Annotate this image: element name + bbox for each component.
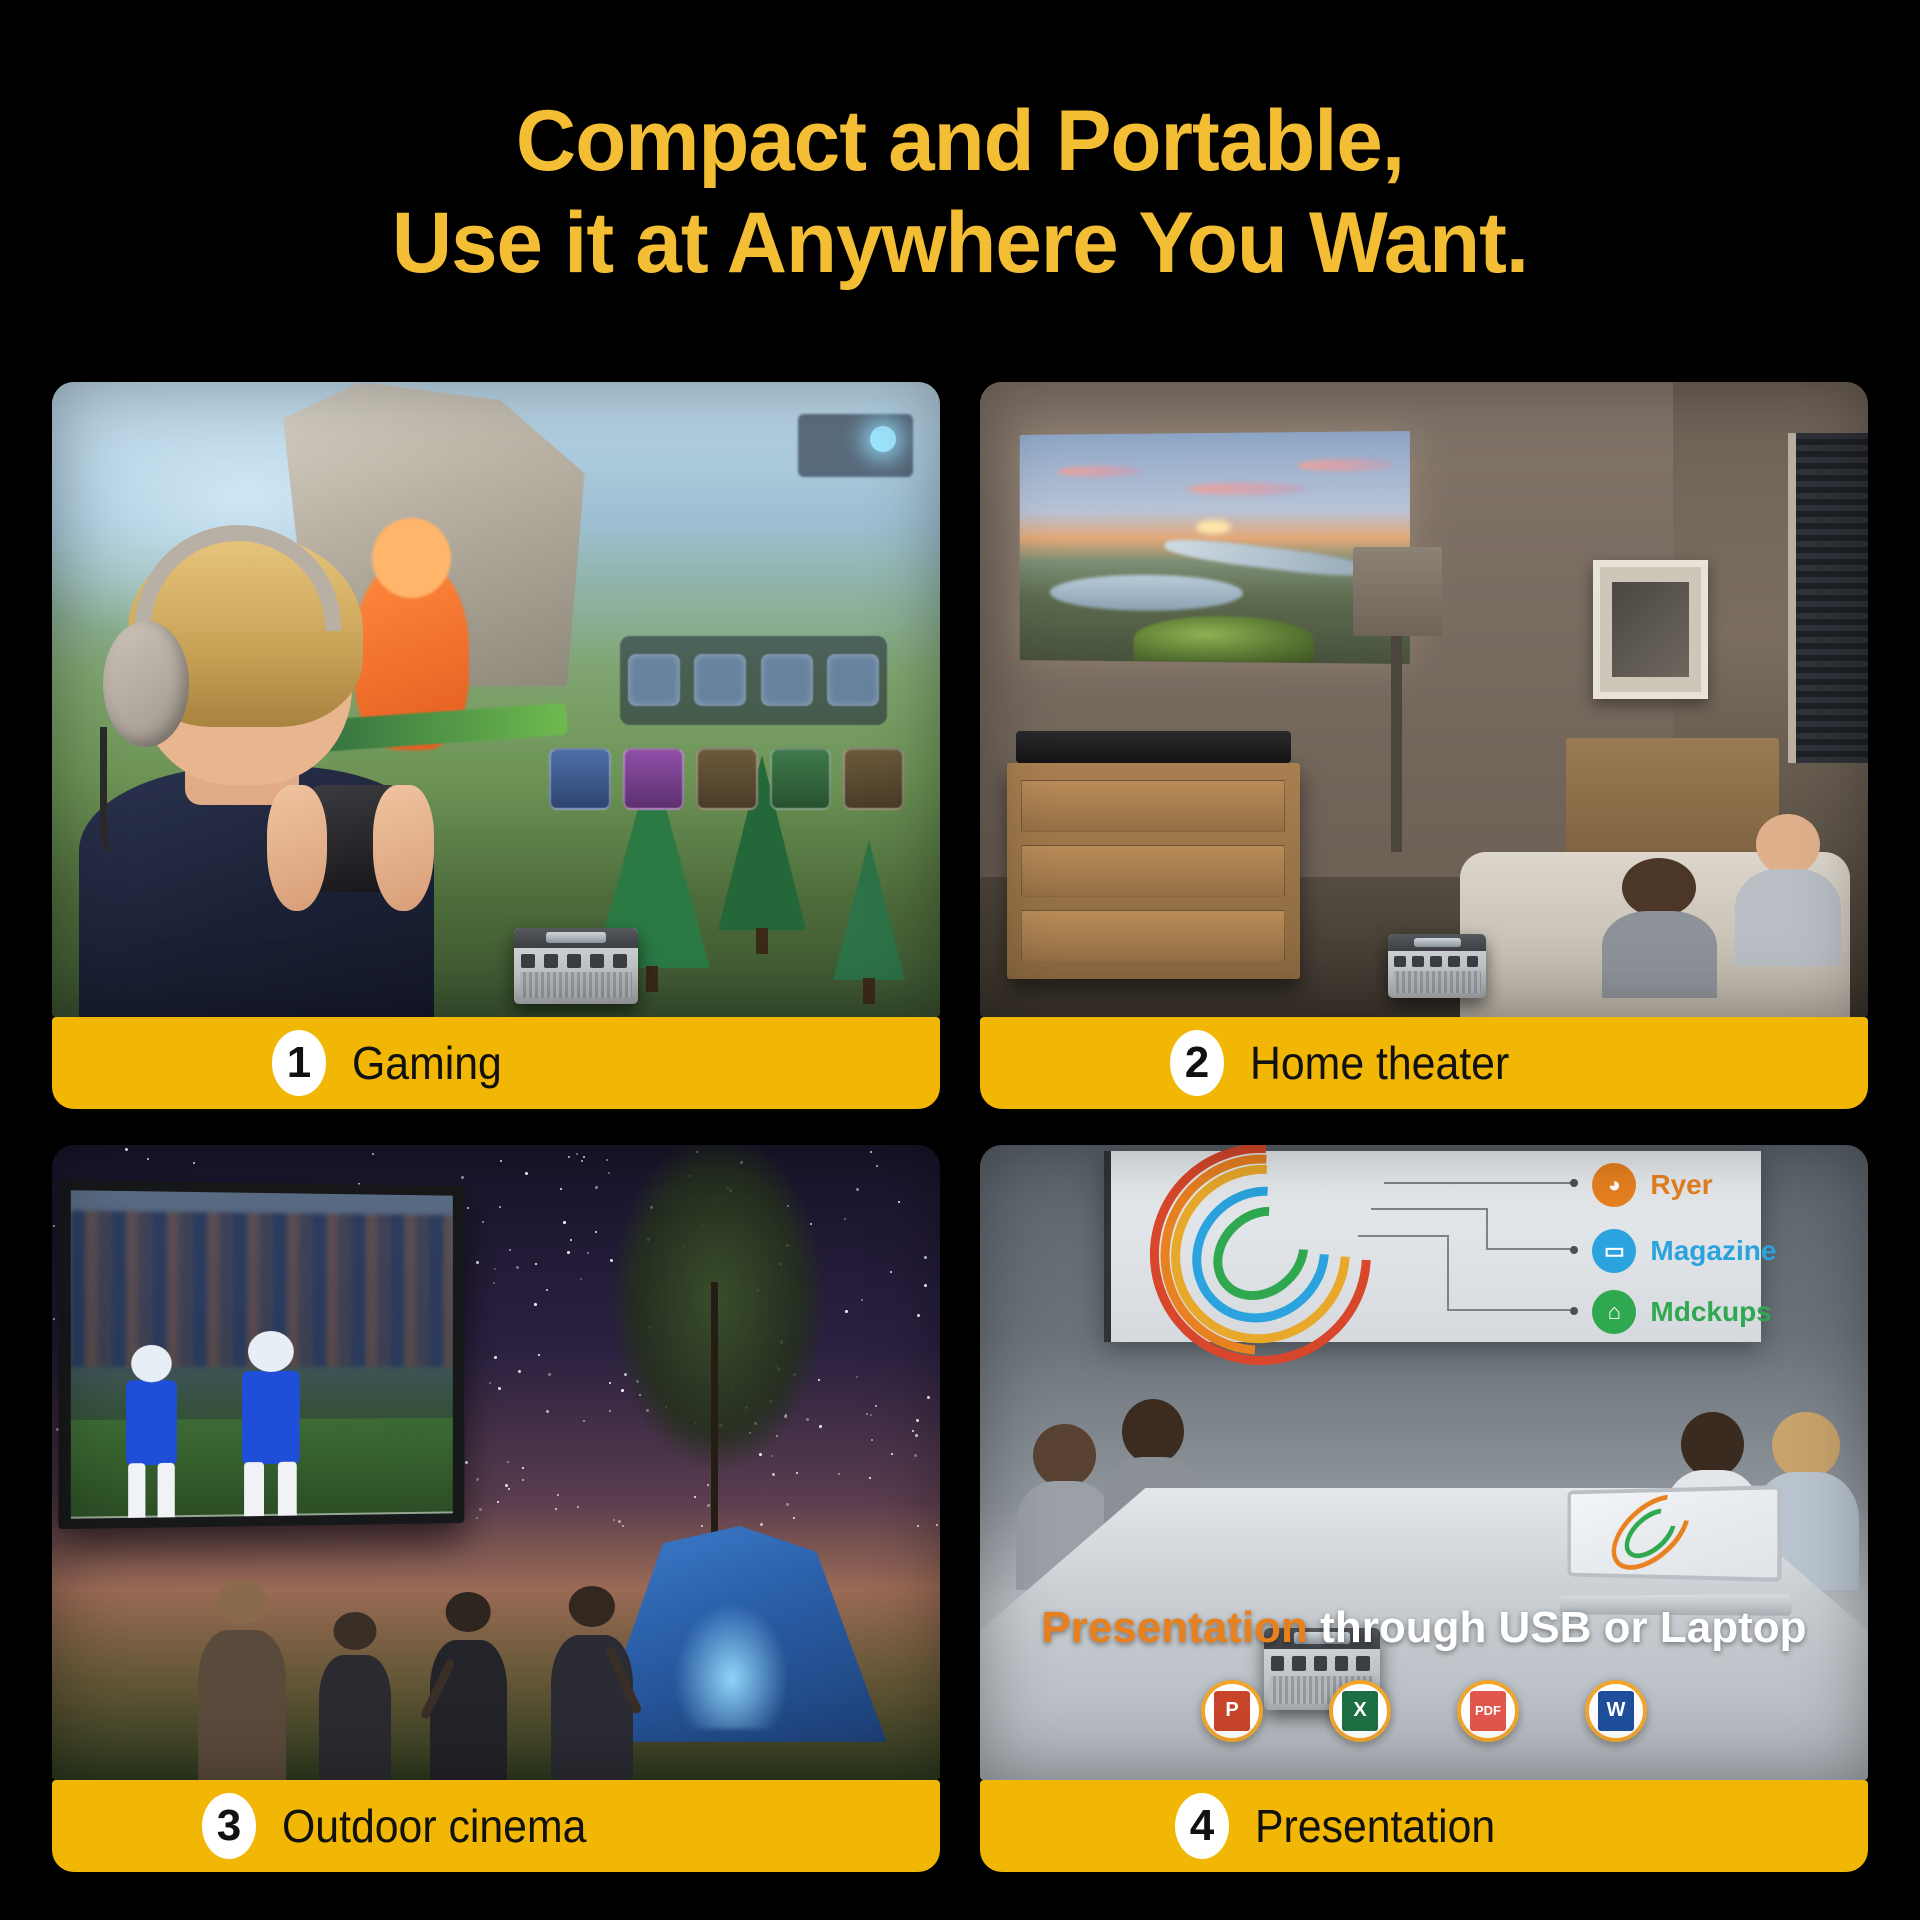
tagline-highlight: Presentation: [1041, 1603, 1308, 1652]
caption-bar-presentation: 4 Presentation: [980, 1780, 1868, 1872]
soundbar-device: [1016, 731, 1291, 763]
floor-lamp-shade: [1353, 547, 1442, 636]
game-inventory-row: [549, 744, 904, 814]
headphones-band-icon: [135, 525, 341, 631]
headline: Compact and Portable, Use it at Anywhere…: [0, 96, 1920, 289]
use-case-card-outdoor-cinema[interactable]: 3 Outdoor cinema: [52, 1145, 940, 1872]
gaming-photo: [52, 382, 940, 1017]
caption-number-badge: 1: [272, 1030, 326, 1096]
portable-projector-device: [1388, 934, 1486, 998]
tagline-rest: through USB or Laptop: [1308, 1603, 1807, 1652]
window-blinds: [1788, 433, 1868, 763]
legend-label: Mdckups: [1650, 1296, 1771, 1328]
caption-number-badge: 3: [202, 1793, 256, 1859]
legend-item-magazine: ▭ Magazine: [1592, 1229, 1776, 1273]
home-theater-photo: [980, 382, 1868, 1017]
laptop-icon: ▭: [1592, 1229, 1636, 1273]
laptop-screen: [1568, 1485, 1782, 1582]
game-tree: [833, 840, 905, 1004]
audience-person: [551, 1635, 634, 1780]
use-case-card-home-theater[interactable]: 2 Home theater: [980, 382, 1868, 1109]
audience-person: [319, 1655, 391, 1780]
presentation-tagline: Presentation through USB or Laptop: [1007, 1603, 1842, 1653]
viewer-person-back: [1735, 814, 1842, 966]
headphones-cable: [100, 727, 118, 852]
word-glyph: W: [1598, 1691, 1634, 1731]
portable-projector-device: [514, 928, 638, 1004]
use-case-grid: 1 Gaming: [52, 382, 1868, 1872]
outdoor-screen-surface: [71, 1191, 453, 1519]
caption-label: Presentation: [1255, 1799, 1495, 1853]
outdoor-screen-frame: [58, 1180, 464, 1529]
game-minimap: [798, 414, 913, 478]
caption-bar-gaming: 1 Gaming: [52, 1017, 940, 1109]
legend-item-ryer: ◕ Ryer: [1592, 1163, 1712, 1207]
laptop-device: [1557, 1488, 1779, 1615]
caption-label: Outdoor cinema: [282, 1799, 586, 1853]
caption-number-badge: 2: [1170, 1030, 1224, 1096]
pdf-file-icon: PDF: [1457, 1680, 1519, 1742]
gamer-person: [79, 534, 434, 1017]
game-hud-bar: [620, 636, 886, 725]
pdf-glyph: PDF: [1470, 1691, 1506, 1731]
gamer-hand-right: [373, 785, 433, 910]
excel-glyph: X: [1342, 1691, 1378, 1731]
audience-person: [198, 1630, 286, 1780]
caption-bar-home-theater: 2 Home theater: [980, 1017, 1868, 1109]
legend-label: Ryer: [1650, 1169, 1712, 1201]
wall-picture-frame: [1593, 560, 1708, 700]
projected-landscape-image: [1019, 431, 1409, 664]
word-file-icon: W: [1585, 1680, 1647, 1742]
headline-line-2: Use it at Anywhere You Want.: [29, 198, 1891, 288]
file-format-icons: P X PDF W: [980, 1680, 1868, 1742]
pie-chart-icon: ◕: [1592, 1163, 1636, 1207]
caption-label: Gaming: [352, 1036, 502, 1090]
floor-lamp-pole: [1391, 636, 1402, 852]
football-player: [126, 1381, 177, 1466]
wooden-dresser: [1007, 763, 1300, 979]
projected-slide: ◕ Ryer ▭ Magazine ⌂ Mdckups: [1104, 1151, 1761, 1342]
use-case-card-presentation[interactable]: ◕ Ryer ▭ Magazine ⌂ Mdckups: [980, 1145, 1868, 1872]
excel-file-icon: X: [1329, 1680, 1391, 1742]
powerpoint-file-icon: P: [1201, 1680, 1263, 1742]
viewer-person-front: [1602, 858, 1717, 998]
caption-number-badge: 4: [1175, 1793, 1229, 1859]
gamer-hand-left: [267, 785, 327, 910]
legend-item-mdckups: ⌂ Mdckups: [1592, 1290, 1771, 1334]
caption-label: Home theater: [1250, 1036, 1509, 1090]
home-icon: ⌂: [1592, 1290, 1636, 1334]
caption-bar-outdoor-cinema: 3 Outdoor cinema: [52, 1780, 940, 1872]
audience-group: [176, 1539, 727, 1780]
powerpoint-glyph: P: [1214, 1691, 1250, 1731]
headline-line-1: Compact and Portable,: [29, 96, 1891, 186]
presentation-photo: ◕ Ryer ▭ Magazine ⌂ Mdckups: [980, 1145, 1868, 1780]
football-player: [242, 1371, 299, 1465]
donut-chart-graphic: [1150, 1145, 1371, 1380]
audience-person: [430, 1640, 507, 1780]
use-case-card-gaming[interactable]: 1 Gaming: [52, 382, 940, 1109]
promo-image-root: Compact and Portable, Use it at Anywhere…: [0, 0, 1920, 1920]
outdoor-cinema-photo: [52, 1145, 940, 1780]
legend-label: Magazine: [1650, 1235, 1776, 1267]
game-ping-icon: [870, 426, 896, 452]
